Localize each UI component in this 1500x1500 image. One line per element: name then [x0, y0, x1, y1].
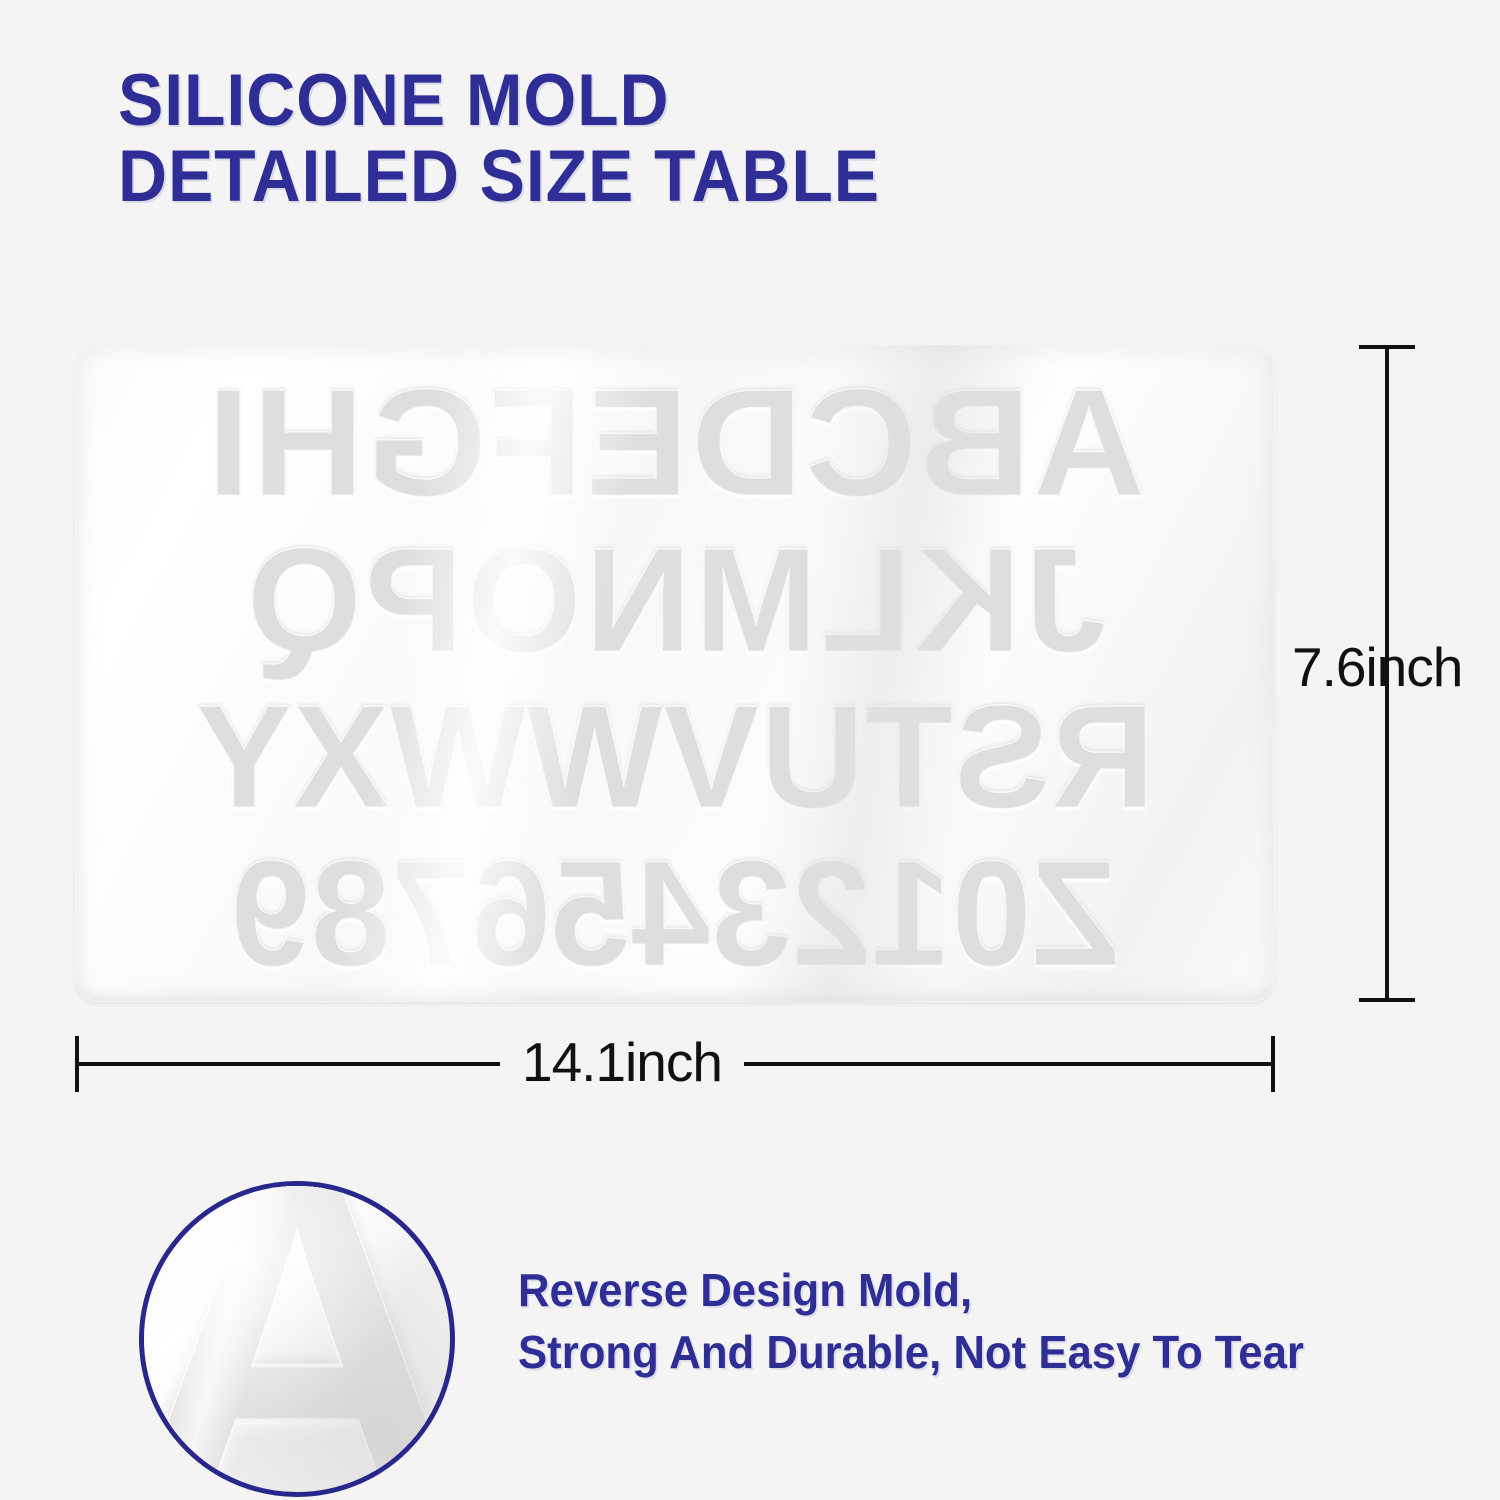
title-line-2: DETAILED SIZE TABLE: [118, 139, 1281, 215]
caption-line-1: Reverse Design Mold,: [518, 1259, 1402, 1321]
mold-row-alphabet-3: RSTUVWWXY: [84, 684, 1266, 830]
width-dimension-cap-left: [75, 1036, 79, 1092]
silicone-mold-image: ABCDEFGHI JKLMNOPQ RSTUVWWXY Z0123456789: [75, 345, 1275, 1002]
mold-row-digits: Z0123456789: [99, 838, 1251, 988]
mold-row-alphabet-1: ABCDEFGHI: [75, 367, 1275, 519]
title-line-1: SILICONE MOLD: [118, 63, 1281, 139]
height-dimension-cap-bottom: [1359, 998, 1415, 1002]
width-dimension-cap-right: [1271, 1036, 1275, 1092]
caption-line-2: Strong And Durable, Not Easy To Tear: [518, 1321, 1402, 1383]
magnified-letter-a: A: [139, 1181, 455, 1497]
engraved-character-grid: ABCDEFGHI JKLMNOPQ RSTUVWWXY Z0123456789: [75, 367, 1275, 988]
height-dimension-label: 7.6inch: [1292, 637, 1500, 697]
height-dimension-cap-top: [1359, 345, 1415, 349]
mold-row-alphabet-2: JKLMNOPQ: [75, 527, 1275, 675]
mold-body: ABCDEFGHI JKLMNOPQ RSTUVWWXY Z0123456789: [75, 345, 1275, 1002]
feature-caption: Reverse Design Mold, Strong And Durable,…: [518, 1259, 1448, 1383]
page-title: SILICONE MOLD DETAILED SIZE TABLE: [118, 63, 1368, 215]
width-dimension-label: 14.1inch: [500, 1029, 744, 1095]
detail-zoom-circle: A: [139, 1181, 455, 1497]
